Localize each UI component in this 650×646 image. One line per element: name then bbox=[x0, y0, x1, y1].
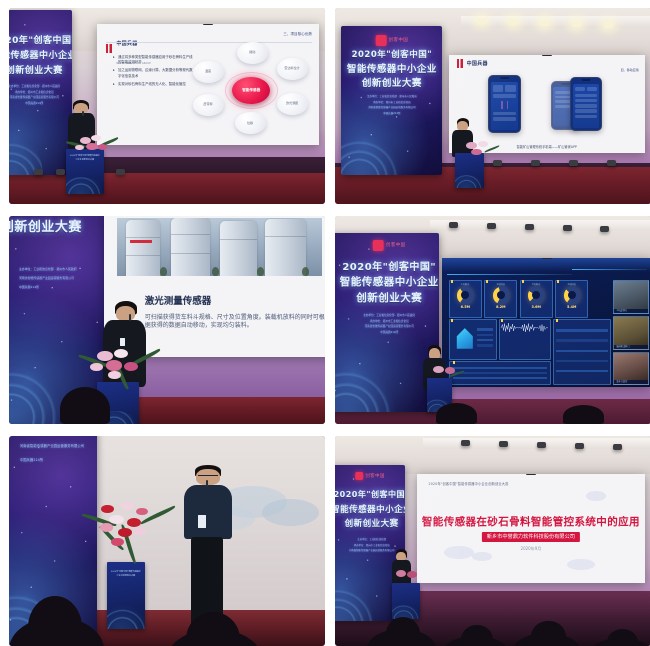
node-radar-level: 雷达料位计 bbox=[277, 58, 308, 80]
head bbox=[116, 306, 135, 321]
photo-panel-4[interactable]: 创客中国 2020年"创客中国" 智能传感器中小企业 创新创业大赛 主办单位：工… bbox=[335, 216, 650, 424]
photo-panel-3[interactable]: 创新创业大赛 主办单位：工业和信息化部 · 郑州市人民政府 河南省智能传感器产业… bbox=[9, 216, 325, 424]
silo-gauge bbox=[457, 287, 473, 304]
photo-panel-6[interactable]: 创客中国 2020年"创客中国" 智能传感器中小企业 创新创业大赛 主办单位：工… bbox=[335, 436, 650, 646]
brand-bars-icon bbox=[457, 59, 464, 68]
ceiling-spotlight bbox=[487, 223, 496, 229]
flower bbox=[466, 142, 477, 149]
flower bbox=[136, 508, 148, 516]
organizer-line: 承办单位：郑州市工业和信息化局 bbox=[363, 319, 415, 323]
node-displacement: 位移 bbox=[235, 112, 266, 134]
node-temperature: 温度 bbox=[193, 61, 224, 83]
stage-light bbox=[607, 160, 616, 166]
flower bbox=[109, 515, 124, 524]
banner-line-1: 2020年"创客中国" bbox=[352, 48, 433, 60]
silo-band bbox=[126, 237, 161, 238]
photo-panel-2[interactable]: 创客中国 2020年"创客中国" 智能传感器中小企业 创新创业大赛 主办单位：工… bbox=[335, 8, 650, 204]
organizer-line: 承办单位：郑州市工业和信息化局 bbox=[349, 543, 394, 547]
stage-light bbox=[569, 160, 578, 166]
flower bbox=[407, 571, 417, 578]
brand-bars-icon bbox=[106, 44, 113, 53]
phone-card bbox=[575, 109, 597, 113]
wall-graphic bbox=[262, 499, 319, 526]
flower bbox=[91, 135, 101, 141]
stage-light bbox=[493, 160, 502, 166]
flower bbox=[114, 349, 128, 358]
stage-light bbox=[116, 169, 125, 175]
flower bbox=[445, 367, 455, 373]
banner-line-1: 2020年"创客中国" bbox=[9, 33, 72, 46]
gauge-inner bbox=[497, 291, 505, 299]
led-wall-dashboard: 6.5M 1号料仓 8.2M 2号料仓 3.6M bbox=[442, 258, 650, 387]
dashboard-accent-line bbox=[447, 274, 572, 275]
gauge-card: 6.5M 1号料仓 bbox=[449, 280, 482, 318]
flower bbox=[471, 149, 482, 156]
silo-band bbox=[126, 255, 161, 256]
gauge-label: 3号料仓 bbox=[521, 282, 552, 286]
status-table-card bbox=[553, 319, 611, 384]
audience-head bbox=[563, 405, 604, 424]
lectern-swirl bbox=[107, 604, 145, 630]
organizer-line: 主办单位：工业和信息化部 · 郑州市人民政府 bbox=[19, 267, 77, 271]
silo-band bbox=[171, 234, 210, 235]
table-row bbox=[453, 372, 547, 374]
chuangke-mark-icon bbox=[355, 472, 363, 480]
chuangke-mark-icon bbox=[376, 35, 387, 46]
lanyard-badge bbox=[198, 515, 206, 528]
event-banner: 创客中国 2020年"创客中国" 智能传感器中小企业 创新创业大赛 主办单位：工… bbox=[341, 26, 442, 175]
organizer-line: 中国兵器214所 bbox=[20, 457, 84, 462]
ceiling-spotlight bbox=[572, 21, 581, 27]
model-param-row bbox=[477, 339, 493, 341]
silo-gauge bbox=[564, 287, 580, 304]
banner-line-2: 智能传感器中小企业 bbox=[340, 274, 439, 289]
gauge-label: 2号料仓 bbox=[485, 282, 516, 286]
waveform-card bbox=[499, 319, 551, 360]
organizer-line: 主办单位：工业和信息化部 · 郑州市人民政府 bbox=[367, 94, 417, 98]
ceiling-spotlight bbox=[540, 20, 549, 26]
flower bbox=[134, 528, 146, 536]
ceiling-spotlight bbox=[563, 225, 572, 231]
slide-bullet-list: 通过将多种类型智能传感器应用于砂石骨料生产线的智能监测环节 加之运用物联网、边缘… bbox=[113, 55, 193, 90]
organizer-line: 承办单位：郑州市工业和信息化局 bbox=[367, 100, 417, 104]
card-tab-icon bbox=[451, 319, 453, 322]
dashboard-accent-line bbox=[572, 269, 647, 270]
gauge-value: 6.5M bbox=[450, 305, 481, 309]
gauge-inner bbox=[532, 291, 540, 299]
banner-line-2: 智能传感器中小企业 bbox=[335, 503, 405, 515]
stage-light bbox=[34, 169, 43, 175]
banner-line-1: 创新创业大赛 bbox=[9, 216, 82, 235]
gauge-value: 8.2M bbox=[485, 305, 516, 309]
gauge-value: 3.6M bbox=[521, 305, 552, 309]
silo bbox=[220, 221, 257, 276]
organizer-line: 主办单位：工业和信息化部 bbox=[349, 537, 394, 541]
lectern-swirl bbox=[455, 175, 483, 188]
phone-card bbox=[575, 87, 585, 91]
phone-screen bbox=[573, 84, 599, 128]
ceiling-spotlight bbox=[525, 224, 534, 230]
flower bbox=[90, 363, 103, 371]
ceiling-spotlight bbox=[575, 443, 584, 449]
slide-decor-blob bbox=[472, 552, 492, 561]
table-row bbox=[556, 370, 608, 372]
banner-organizers: 主办单位：工业和信息化部 · 郑州市人民政府 承办单位：郑州市工业和信息化局 河… bbox=[363, 311, 415, 335]
flower bbox=[75, 145, 84, 151]
organizer-line: 河南省智能传感器产业园运营服务有限公司 bbox=[20, 443, 84, 448]
phone-card bbox=[493, 112, 516, 116]
phone-card bbox=[493, 117, 516, 121]
banner-organizers: 河南省智能传感器产业园运营服务有限公司 中国兵器214所 bbox=[20, 436, 84, 471]
chuangke-mark-icon bbox=[373, 240, 384, 251]
organizer-line: 主办单位：工业和信息化部 · 郑州市人民政府 bbox=[9, 84, 60, 88]
slide-brand: 中国兵器 bbox=[457, 59, 488, 68]
banner-line-2: 智能传感器中小企业 bbox=[9, 48, 72, 61]
slide-date: 2020年9月 bbox=[417, 546, 645, 552]
slide-section-title: 三、项目核心优势 bbox=[283, 32, 312, 37]
tree bbox=[212, 267, 219, 276]
ceiling-spotlight bbox=[449, 222, 458, 228]
core-node-smart-sensor: 智能传感器 bbox=[232, 77, 270, 104]
silo bbox=[265, 219, 306, 276]
vibration-waveform bbox=[500, 320, 550, 335]
flower bbox=[86, 143, 98, 151]
slide-bullet: 实现对砂石骨料生产线的无人化、智能化管控 bbox=[113, 82, 193, 87]
flower bbox=[108, 371, 121, 379]
phone-mockup-front bbox=[570, 77, 601, 132]
banner-logo: 创客中国 bbox=[376, 35, 409, 46]
banner-line-3: 创新创业大赛 bbox=[356, 290, 422, 305]
gauge-card: 8.2M 2号料仓 bbox=[484, 280, 517, 318]
phone-mockup-primary bbox=[488, 75, 521, 134]
slide-photo bbox=[117, 218, 322, 276]
organizer-line: 河南省智能传感器产业园运营服务有限公司 bbox=[349, 548, 394, 552]
banner-logo-text: 创客中国 bbox=[386, 242, 406, 248]
slide-decor-blob bbox=[567, 559, 594, 570]
flower bbox=[121, 502, 134, 511]
phone-card bbox=[575, 115, 597, 119]
table-row bbox=[556, 360, 608, 362]
screen-mount bbox=[542, 258, 552, 259]
flower bbox=[100, 523, 113, 532]
slide-bullet: 通过将多种类型智能传感器应用于砂石骨料生产线的智能监测环节 bbox=[113, 55, 193, 65]
flower-arrangement bbox=[458, 137, 499, 162]
flower bbox=[106, 360, 123, 371]
photo-panel-1[interactable]: 2020年"创客中国" 智能传感器中小企业 创新创业大赛 主办单位：工业和信息化… bbox=[9, 8, 325, 204]
model-card bbox=[449, 319, 497, 360]
stage-light bbox=[531, 160, 540, 166]
camera-feed: 装车口监控 bbox=[613, 352, 648, 385]
camera-label: 破碎机出料口 bbox=[614, 345, 647, 349]
camera-feed: 1号皮带机 bbox=[613, 280, 648, 314]
lectern: 2020年"创客中国"智能传感器中小企业创新创业大赛 bbox=[107, 562, 145, 629]
ceiling-spotlight bbox=[600, 226, 609, 232]
tree bbox=[302, 267, 309, 276]
phone-card bbox=[575, 99, 597, 103]
flower bbox=[118, 528, 133, 537]
camera-label: 装车口监控 bbox=[614, 380, 647, 384]
flower bbox=[433, 366, 444, 373]
slide-divider bbox=[106, 42, 312, 43]
ceiling-spotlight bbox=[499, 441, 508, 447]
node-laser-ranging: 激光测距 bbox=[277, 93, 308, 115]
phone-screen bbox=[491, 82, 519, 129]
gauge-label: 1号料仓 bbox=[450, 282, 481, 286]
organizer-line: 河南省智能传感器产业园运营服务有限公司 bbox=[363, 324, 415, 328]
silo-gauge bbox=[493, 287, 509, 304]
slide-section-title: 四、移动应用 bbox=[621, 68, 639, 72]
slide-header: 2020年"创客中国"智能传感器中小企业创新创业大赛 bbox=[429, 481, 509, 486]
banner-line-3: 创新创业大赛 bbox=[9, 63, 63, 76]
audience-head bbox=[436, 403, 477, 424]
dashboard-surface: 6.5M 1号料仓 8.2M 2号料仓 3.6M bbox=[442, 258, 650, 387]
banner-organizers: 主办单位：工业和信息化部 · 郑州市人民政府 河南省智能传感器产业园运营服务有限… bbox=[19, 262, 77, 294]
lighting-rail bbox=[461, 16, 650, 28]
organizer-line: 中国兵器214所 bbox=[367, 111, 417, 115]
ceiling-spotlight bbox=[477, 18, 486, 24]
table-row bbox=[453, 377, 547, 379]
brand-name: 中国兵器 bbox=[467, 60, 488, 67]
card-tab-icon bbox=[556, 319, 558, 322]
projection-screen: 2020年"创客中国"智能传感器中小企业创新创业大赛 智能传感器在砂石骨料智能管… bbox=[417, 474, 645, 583]
flower-arrangement bbox=[427, 362, 465, 387]
organizer-line: 中国兵器214所 bbox=[363, 330, 415, 334]
3d-model bbox=[454, 327, 475, 351]
lighting-rail bbox=[430, 220, 650, 230]
table-row bbox=[453, 367, 547, 369]
organizer-line: 河南省智能传感器产业园运营服务有限公司 bbox=[19, 276, 77, 280]
slide-company-badge: 新乡市中誉鼎力软件科技股份有限公司 bbox=[482, 532, 580, 542]
flower bbox=[124, 362, 138, 371]
photo-gallery-grid: 2020年"创客中国" 智能传感器中小企业 创新创业大赛 主办单位：工业和信息化… bbox=[0, 0, 650, 646]
organizer-line: 河南省智能传感器产业园运营服务有限公司 bbox=[9, 95, 60, 99]
node-belt-scale: 皮带秤 bbox=[193, 94, 224, 116]
flower-arrangement bbox=[389, 566, 427, 591]
gauge-card: 5.4M 4号料仓 bbox=[555, 280, 588, 318]
red-carpet bbox=[9, 173, 325, 204]
glasses bbox=[198, 475, 219, 476]
flower bbox=[127, 518, 141, 527]
flower-arrangement bbox=[69, 131, 120, 162]
organizer-line: 中国兵器214所 bbox=[19, 285, 77, 289]
model-param-row bbox=[477, 334, 493, 336]
tree bbox=[160, 267, 167, 276]
slide-decor-blob bbox=[586, 491, 606, 501]
tree bbox=[257, 267, 264, 276]
ceiling-spotlight bbox=[509, 19, 518, 25]
ceiling-spotlight bbox=[461, 440, 470, 446]
banner-logo-text: 创客中国 bbox=[389, 37, 409, 43]
flower bbox=[478, 141, 488, 147]
organizer-line: 承办单位：郑州市工业和信息化局 bbox=[9, 90, 60, 94]
banner-line-3: 创新创业大赛 bbox=[362, 75, 422, 89]
phone-card bbox=[493, 94, 516, 99]
silo bbox=[171, 218, 210, 276]
silo-red-label bbox=[130, 240, 153, 243]
banner-logo-text: 创客中国 bbox=[365, 473, 385, 479]
stage-light bbox=[56, 169, 65, 175]
ceiling-spotlight bbox=[604, 22, 613, 28]
screen-mount bbox=[203, 24, 213, 25]
screen-mount bbox=[526, 474, 536, 475]
microphone bbox=[206, 480, 208, 487]
phone-card bbox=[575, 94, 597, 98]
lectern-swirl bbox=[66, 177, 104, 194]
gauge-card: 3.6M 3号料仓 bbox=[520, 280, 553, 318]
silo-gauge bbox=[528, 287, 544, 304]
slide-bullet: 加之运用物联网、边缘计算、大数据分析等现代数字化信息技术 bbox=[113, 68, 193, 78]
table-row bbox=[556, 350, 608, 352]
banner-logo: 创客中国 bbox=[373, 240, 406, 251]
phone-card bbox=[575, 104, 597, 108]
flower-arrangement bbox=[88, 499, 170, 570]
flower bbox=[111, 538, 124, 547]
gauge-inner bbox=[568, 291, 576, 299]
organizer-line: 河南省智能传感器产业园运营服务有限公司 bbox=[367, 105, 417, 109]
banner-line-3: 创新创业大赛 bbox=[345, 517, 399, 529]
organizer-line: 中国兵器214所 bbox=[9, 101, 60, 105]
camera-label: 1号皮带机 bbox=[614, 309, 647, 313]
banner-line-2: 智能传感器中小企业 bbox=[347, 61, 437, 75]
photo-panel-5[interactable]: 河南省智能传感器产业园运营服务有限公司 中国兵器214所 2020年"创客中国"… bbox=[9, 436, 325, 646]
silo-band bbox=[171, 253, 210, 254]
slide-main-title: 智能传感器在砂石骨料智能管控系统中的应用 bbox=[417, 514, 645, 529]
banner-line-1: 2020年"创客中国" bbox=[342, 258, 436, 273]
slide-body-text: 可扫描获得货车料斗规格、尺寸及位置角度。装载机放料的同时可根据获得的数据自动移动… bbox=[145, 314, 325, 331]
flower bbox=[396, 570, 407, 577]
banner-line-1: 2020年"创客中国" bbox=[335, 489, 405, 500]
phone-card bbox=[505, 85, 516, 92]
model-param-row bbox=[477, 328, 493, 330]
model-param-row bbox=[477, 344, 493, 346]
silo bbox=[126, 220, 161, 276]
phone-chart bbox=[493, 101, 516, 109]
phone-card bbox=[587, 87, 597, 91]
camera-feed: 破碎机出料口 bbox=[613, 316, 648, 350]
flower bbox=[101, 505, 114, 514]
ceiling-spotlight bbox=[613, 444, 622, 450]
gauge-inner bbox=[461, 291, 469, 299]
phone-card bbox=[493, 85, 503, 92]
banner-organizers: 主办单位：工业和信息化部 承办单位：郑州市工业和信息化局 河南省智能传感器产业园… bbox=[349, 535, 394, 553]
gauge-label: 4号料仓 bbox=[556, 282, 587, 286]
ceiling-spotlight bbox=[537, 442, 546, 448]
banner-logo: 创客中国 bbox=[355, 472, 385, 480]
lectern-text: 2020年"创客中国"智能传感器中小企业创新创业大赛 bbox=[110, 571, 142, 578]
screen-mount bbox=[542, 55, 552, 56]
silo-band bbox=[265, 236, 306, 237]
banner-organizers: 主办单位：工业和信息化部 · 郑州市人民政府 承办单位：郑州市工业和信息化局 河… bbox=[9, 82, 60, 106]
flower bbox=[98, 144, 107, 150]
gauge-value: 5.4M bbox=[556, 305, 587, 309]
head bbox=[196, 469, 220, 485]
organizer-line: 主办单位：工业和信息化部 · 郑州市人民政府 bbox=[363, 313, 415, 317]
projection-screen: 中国兵器 NORTH INDUSTRIES GROUP 三、项目核心优势 通过将… bbox=[97, 24, 318, 146]
flower-arrangement bbox=[85, 345, 155, 391]
presenter-figure bbox=[173, 465, 243, 629]
table-row bbox=[556, 329, 608, 331]
banner-organizers: 主办单位：工业和信息化部 · 郑州市人民政府 承办单位：郑州市工业和信息化局 河… bbox=[367, 93, 417, 117]
node-vibration: 振动 bbox=[237, 42, 268, 64]
table-row bbox=[556, 339, 608, 341]
silo-band bbox=[220, 239, 257, 240]
slide-title: 激光测量传感器 bbox=[145, 293, 212, 307]
